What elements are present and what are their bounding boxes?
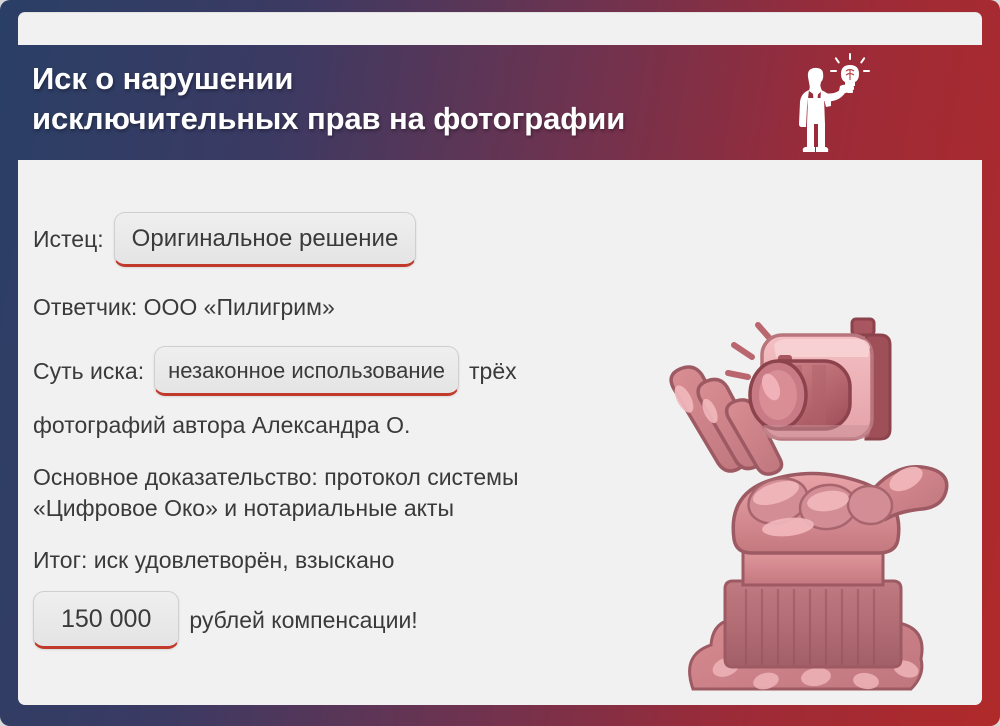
amount-tail-text: рублей компенсации! [189,604,417,637]
defendant-row: Ответчик: ООО «Пилигрим» [33,291,673,324]
card-top-strip [18,12,982,45]
claim-label: Суть иска: [33,355,144,388]
content-card: Истец: Оригинальное решение Ответчик: ОО… [18,160,982,705]
plaintiff-row: Истец: Оригинальное решение [33,212,673,267]
claim-tail-text: трёх [469,355,517,388]
businessman-with-lightbulb-icon [780,53,890,155]
result-text: Итог: иск удовлетворён, взыскано [33,545,673,577]
claim-second-line: фотографий автора Александра О. [33,410,673,442]
evidence-text: Основное доказательство: протокол систем… [33,462,673,525]
amount-row: 150 000 рублей компенсации! [33,591,673,650]
plaintiff-label: Истец: [33,223,104,256]
case-summary: Истец: Оригинальное решение Ответчик: ОО… [33,212,673,649]
amount-chip[interactable]: 150 000 [33,591,179,650]
claim-row: Суть иска: незаконное использование трёх [33,346,673,396]
claim-value-chip[interactable]: незаконное использование [154,346,459,396]
poster-root: Иск о нарушении исключительных прав на ф… [0,0,1000,726]
wrist-cylinder [725,581,901,667]
page-title: Иск о нарушении исключительных прав на ф… [32,59,772,138]
header-band: Иск о нарушении исключительных прав на ф… [0,45,1000,160]
hand-presenting-camera-illustration [638,289,982,705]
plaintiff-value-chip[interactable]: Оригинальное решение [114,212,417,267]
defendant-text: Ответчик: ООО «Пилигрим» [33,291,335,324]
